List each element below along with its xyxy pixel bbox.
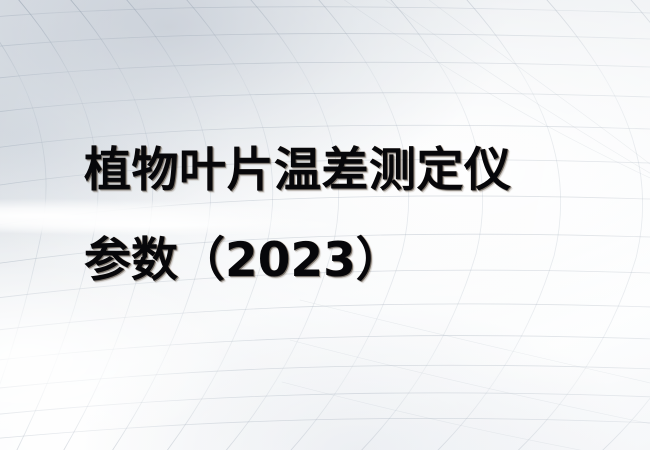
slide-title: 植物叶片温差测定仪 参数（2023） [84, 126, 614, 306]
title-line-1: 植物叶片温差测定仪 [84, 126, 614, 216]
title-line-2: 参数（2023） [84, 216, 614, 306]
slide-canvas: 植物叶片温差测定仪 参数（2023） [0, 0, 650, 450]
